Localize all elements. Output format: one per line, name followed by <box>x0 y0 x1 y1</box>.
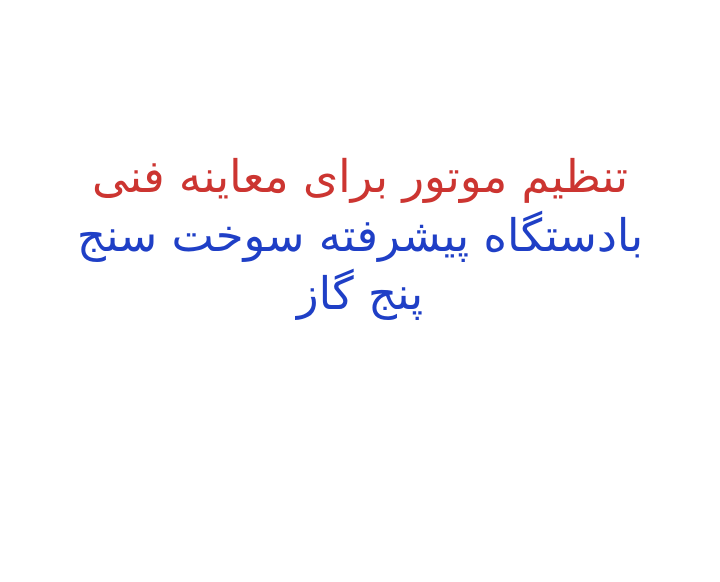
poster-headline-line-2: بادستگاه پیشرفته سوخت سنج <box>73 207 647 266</box>
poster-canvas: تنظیم موتور برای معاینه فنی بادستگاه پیش… <box>0 0 720 582</box>
poster-headline-line-3: پنج گاز <box>293 265 427 324</box>
poster-text-block: تنظیم موتور برای معاینه فنی بادستگاه پیش… <box>0 148 720 324</box>
poster-headline-line-1: تنظیم موتور برای معاینه فنی <box>84 148 636 207</box>
